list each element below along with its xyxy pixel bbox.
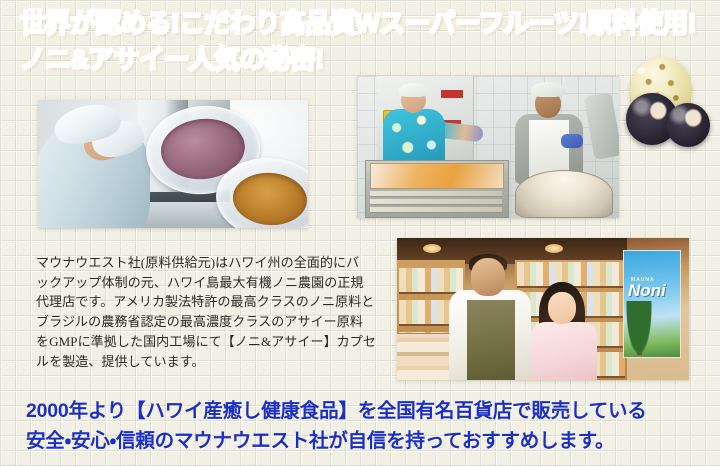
footer-copy-line-2: 安全・安心・信頼のマウナウエスト社が自信を持っておすすめします。 xyxy=(26,426,716,456)
noni-poster-title-text: Noni xyxy=(628,282,666,299)
body-copy-line-4: ブラジルの農務省認定の最高濃度クラスのアサイー原料 xyxy=(36,312,382,332)
product-boxes-graphic xyxy=(397,333,457,380)
headline-line-2-text: ノニ&アサイー人気の秘密! xyxy=(20,46,324,74)
photo-factory-powder xyxy=(38,100,308,228)
blue-glove-graphic xyxy=(561,134,583,148)
drying-tray-graphic xyxy=(370,199,502,205)
promotional-banner: 世界が認める!こだわり高品質Wスーパーフルーツ!原料使用! ノニ&アサイー人気の… xyxy=(0,0,720,467)
shelf-row-graphic xyxy=(399,268,463,294)
photo-shop-couple: MAUNA Noni xyxy=(397,238,689,380)
mixing-bowl-graphic xyxy=(515,170,613,218)
worker-aloha-cap-graphic xyxy=(399,83,428,97)
body-copy-line-6: ルを製造、提供しています。 xyxy=(36,352,382,372)
noni-poster-graphic: MAUNA Noni xyxy=(623,250,681,358)
ceiling-lamp-graphic xyxy=(423,244,441,253)
footer-copy-line-1: 2000年より【ハワイ産癒し健康食品】を全国有名百貨店で販売している xyxy=(26,396,716,426)
body-copy-line-1: マウナウエスト社(原料供給元)はハワイ州の全面的にバ xyxy=(36,253,382,273)
body-copy-line-5: をGMPに準拠した国内工場にて【ノニ&アサイー】カプセ xyxy=(36,332,382,352)
headline-line-2: ノニ&アサイー人気の秘密! xyxy=(20,42,710,78)
headline-line-1: 世界が認める!こだわり高品質Wスーパーフルーツ!原料使用! xyxy=(20,6,710,42)
cabinet-label-graphic xyxy=(441,90,463,98)
palm-tree-graphic xyxy=(626,301,652,355)
drying-tray-rack-graphic xyxy=(365,160,509,218)
footer-copy-block: 2000年より【ハワイ産癒し健康食品】を全国有名百貨店で販売している 安全・安心… xyxy=(26,396,716,456)
headline-block: 世界が認める!こだわり高品質Wスーパーフルーツ!原料使用! ノニ&アサイー人気の… xyxy=(20,6,710,78)
shop-woman-face-graphic xyxy=(548,292,576,324)
body-copy-block: マウナウエスト社(原料供給元)はハワイ州の全面的にバ ックアップ体制の元、ハワイ… xyxy=(36,253,382,371)
noni-powder-graphic xyxy=(231,170,308,227)
body-copy-line-2: ックアップ体制の元、ハワイ島最大有機ノニ農園の正規 xyxy=(36,273,382,293)
acai-berry-small-graphic xyxy=(666,103,710,147)
shop-man-apron-graphic xyxy=(467,300,515,380)
body-copy-line-3: 代理店です。アメリカ製法特許の最高クラスのノニ原料と xyxy=(36,292,382,312)
worker-gray-cap-graphic xyxy=(531,82,565,97)
drying-tray-top-graphic xyxy=(370,163,504,189)
photo-plant-workers xyxy=(357,76,619,218)
shop-woman-blouse-graphic xyxy=(531,322,597,380)
ceiling-lamp-graphic xyxy=(545,244,563,253)
drying-tray-graphic xyxy=(370,191,502,197)
shop-man-face-graphic xyxy=(471,258,505,296)
fruit-cluster xyxy=(612,57,716,149)
drying-tray-graphic xyxy=(370,207,502,213)
headline-line-1-text: 世界が認める!こだわり高品質Wスーパーフルーツ!原料使用! xyxy=(20,10,696,38)
